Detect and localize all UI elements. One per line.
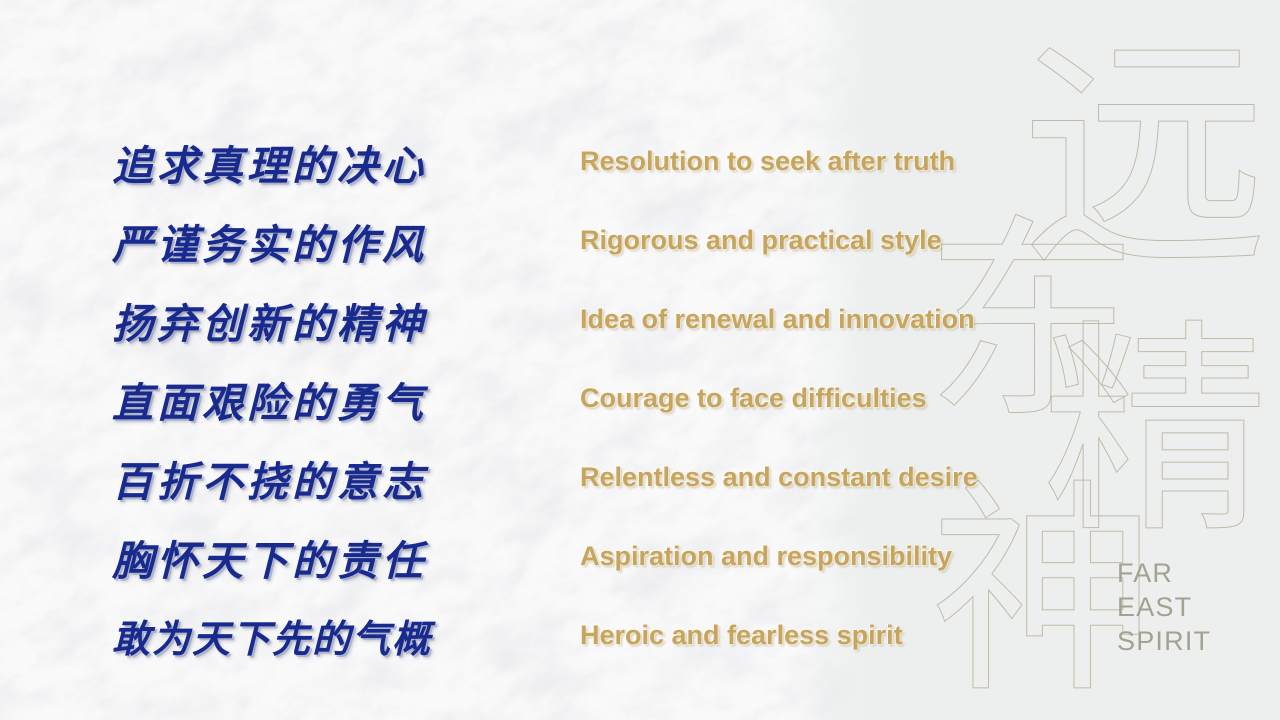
english-principle-line: Resolution to seek after truth (580, 122, 1080, 201)
chinese-principle-line: 胸怀天下的责任 (112, 517, 542, 596)
chinese-principle-line: 追求真理的决心 (112, 122, 542, 201)
wordmark-line-east: EAST (1117, 590, 1211, 624)
english-principle-line: Idea of renewal and innovation (580, 280, 1080, 359)
far-east-spirit-wordmark: FAR EAST SPIRIT (1117, 556, 1211, 658)
chinese-principle-line: 直面艰险的勇气 (112, 359, 542, 438)
english-principles-column: Resolution to seek after truth Rigorous … (580, 122, 1080, 675)
english-principle-line: Relentless and constant desire (580, 438, 1080, 517)
chinese-principle-line: 扬弃创新的精神 (112, 280, 542, 359)
english-principle-line: Heroic and fearless spirit (580, 596, 1080, 675)
slide-canvas: 远 东 精 神 追求真理的决心 严谨务实的作风 扬弃创新的精神 直面艰险的勇气 … (0, 0, 1280, 720)
english-principle-line: Rigorous and practical style (580, 201, 1080, 280)
chinese-principle-line: 百折不挠的意志 (112, 438, 542, 517)
english-principle-line: Courage to face difficulties (580, 359, 1080, 438)
chinese-principles-column: 追求真理的决心 严谨务实的作风 扬弃创新的精神 直面艰险的勇气 百折不挠的意志 … (112, 122, 542, 675)
wordmark-line-spirit: SPIRIT (1117, 624, 1211, 658)
wordmark-line-far: FAR (1117, 556, 1211, 590)
english-principle-line: Aspiration and responsibility (580, 517, 1080, 596)
chinese-principle-line: 敢为天下先的气概 (112, 596, 542, 675)
chinese-principle-line: 严谨务实的作风 (112, 201, 542, 280)
